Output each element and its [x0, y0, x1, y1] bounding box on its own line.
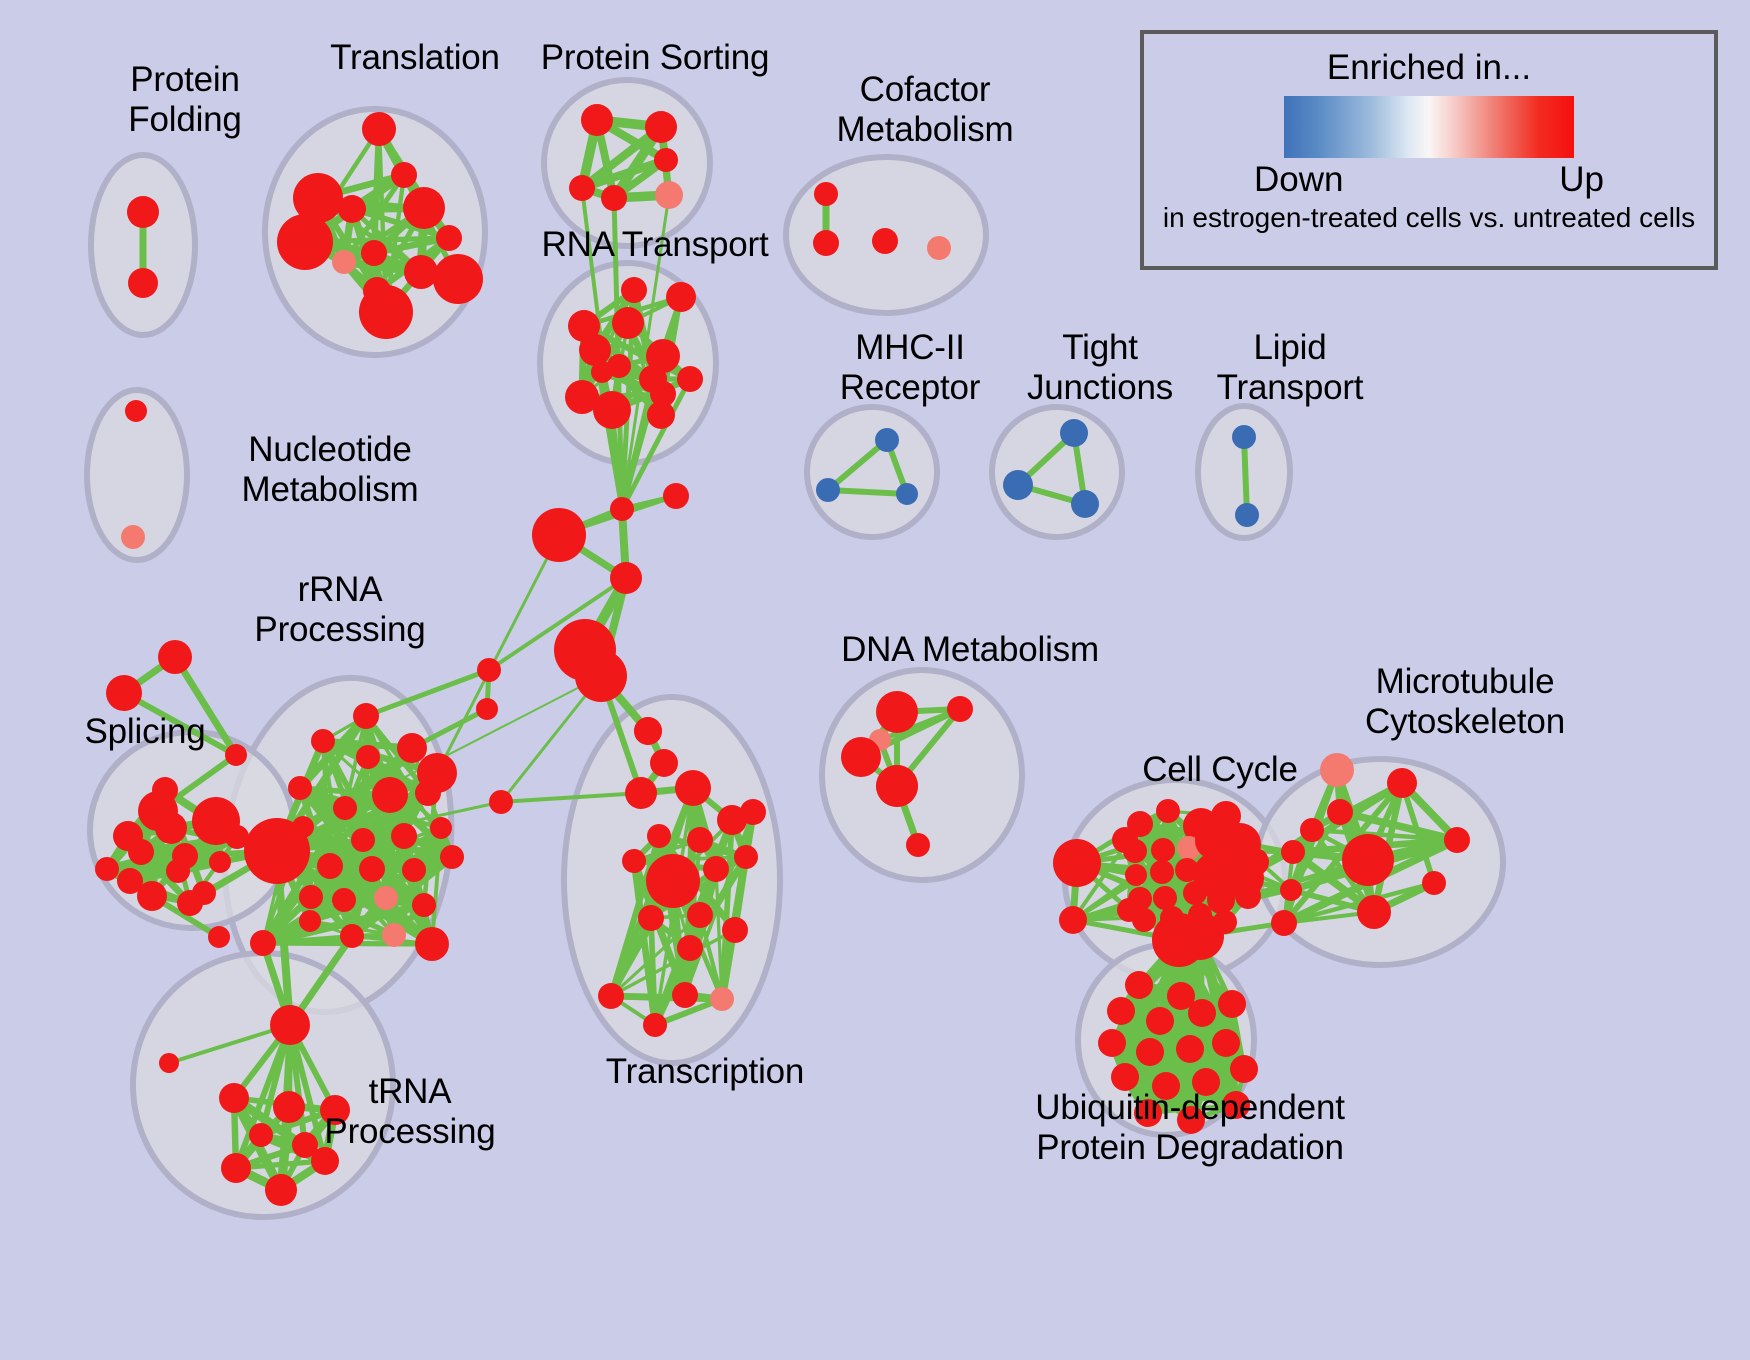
cluster-hull-protein-sorting [544, 80, 710, 246]
network-node[interactable] [666, 282, 696, 312]
network-node[interactable] [333, 796, 357, 820]
network-node[interactable] [710, 987, 734, 1011]
network-node[interactable] [1151, 838, 1175, 862]
network-node[interactable] [663, 483, 689, 509]
network-node[interactable] [1235, 883, 1261, 909]
network-node[interactable] [610, 562, 642, 594]
network-node[interactable] [906, 833, 930, 857]
network-node[interactable] [740, 799, 766, 825]
network-node[interactable] [672, 982, 698, 1008]
network-node[interactable] [569, 175, 595, 201]
network-node[interactable] [841, 737, 881, 777]
network-node[interactable] [403, 187, 445, 229]
network-node[interactable] [1387, 768, 1417, 798]
network-node[interactable] [1152, 1072, 1180, 1100]
network-node[interactable] [270, 1005, 310, 1045]
network-node[interactable] [311, 729, 335, 753]
network-node[interactable] [625, 777, 657, 809]
network-node[interactable] [1280, 879, 1302, 901]
network-node[interactable] [340, 924, 364, 948]
network-node[interactable] [477, 658, 501, 682]
network-node[interactable] [1059, 906, 1087, 934]
network-node[interactable] [643, 1013, 667, 1037]
network-node[interactable] [876, 691, 918, 733]
network-node[interactable] [125, 400, 147, 422]
network-node[interactable] [896, 483, 918, 505]
network-node[interactable] [634, 717, 662, 745]
network-node[interactable] [476, 698, 498, 720]
network-node[interactable] [927, 236, 951, 260]
network-node[interactable] [1098, 1029, 1126, 1057]
network-node[interactable] [734, 845, 758, 869]
network-node[interactable] [1271, 910, 1297, 936]
network-node[interactable] [1125, 864, 1147, 886]
network-node[interactable] [1150, 860, 1174, 884]
network-node[interactable] [1060, 419, 1088, 447]
network-node[interactable] [128, 268, 158, 298]
network-node[interactable] [440, 845, 464, 869]
network-node[interactable] [1117, 898, 1141, 922]
network-node[interactable] [1176, 912, 1224, 960]
network-node[interactable] [249, 1123, 273, 1147]
network-node[interactable] [351, 828, 375, 852]
edge [437, 535, 559, 773]
network-node[interactable] [1156, 799, 1180, 823]
network-node[interactable] [1192, 1068, 1220, 1096]
network-node[interactable] [876, 765, 918, 807]
network-node[interactable] [1342, 834, 1394, 886]
network-node[interactable] [1422, 871, 1446, 895]
network-node[interactable] [338, 195, 366, 223]
network-node[interactable] [816, 478, 840, 502]
network-node[interactable] [647, 824, 671, 848]
network-node[interactable] [591, 361, 613, 383]
network-node[interactable] [687, 827, 713, 853]
network-node[interactable] [1125, 971, 1153, 999]
network-node[interactable] [1357, 895, 1391, 929]
network-node[interactable] [610, 497, 634, 521]
network-node[interactable] [356, 745, 380, 769]
network-node[interactable] [579, 334, 611, 366]
network-node[interactable] [288, 776, 312, 800]
network-node[interactable] [1444, 827, 1470, 853]
network-node[interactable] [372, 777, 408, 813]
network-node[interactable] [813, 230, 839, 256]
network-node[interactable] [430, 817, 452, 839]
network-node[interactable] [166, 859, 190, 883]
network-node[interactable] [687, 902, 713, 928]
network-node[interactable] [655, 181, 683, 209]
network-node[interactable] [359, 285, 413, 339]
network-node[interactable] [106, 675, 142, 711]
legend-title: Enriched in... [1327, 48, 1531, 88]
network-node[interactable] [703, 856, 729, 882]
network-node[interactable] [402, 858, 426, 882]
network-node[interactable] [277, 214, 333, 270]
network-node[interactable] [581, 104, 613, 136]
network-node[interactable] [1053, 839, 1101, 887]
network-node[interactable] [177, 890, 203, 916]
network-node[interactable] [332, 250, 356, 274]
network-node[interactable] [436, 225, 462, 251]
network-node[interactable] [598, 983, 624, 1009]
cluster-hull-mhc-ii-receptor [807, 407, 937, 537]
network-node[interactable] [417, 753, 457, 793]
network-node[interactable] [575, 650, 627, 702]
network-node[interactable] [391, 823, 417, 849]
network-node[interactable] [382, 923, 406, 947]
network-node[interactable] [219, 1083, 249, 1113]
network-node[interactable] [299, 910, 321, 932]
network-node[interactable] [265, 1174, 297, 1206]
network-node[interactable] [225, 744, 247, 766]
legend-high-label: Up [1559, 160, 1604, 200]
network-node[interactable] [675, 770, 711, 806]
network-node[interactable] [113, 821, 143, 851]
network-node[interactable] [433, 254, 483, 304]
enrichment-map-figure: Protein Folding Translation Protein Sort… [0, 0, 1750, 1360]
network-node[interactable] [374, 886, 398, 910]
network-node[interactable] [404, 255, 438, 289]
network-node[interactable] [1232, 425, 1256, 449]
network-node[interactable] [1177, 1106, 1205, 1134]
network-node[interactable] [292, 1132, 318, 1158]
network-node[interactable] [415, 927, 449, 961]
network-node[interactable] [332, 888, 356, 912]
network-node[interactable] [601, 185, 627, 211]
network-node[interactable] [1112, 827, 1138, 853]
network-node[interactable] [299, 885, 323, 909]
network-node[interactable] [221, 1153, 251, 1183]
network-node[interactable] [875, 428, 899, 452]
network-node[interactable] [1188, 999, 1216, 1027]
network-node[interactable] [1176, 1035, 1204, 1063]
legend-subtitle: in estrogen-treated cells vs. untreated … [1163, 202, 1695, 233]
network-node[interactable] [95, 857, 119, 881]
network-node[interactable] [250, 930, 276, 956]
network-node[interactable] [532, 508, 586, 562]
network-node[interactable] [361, 240, 387, 266]
network-node[interactable] [209, 851, 231, 873]
network-node[interactable] [158, 640, 192, 674]
network-node[interactable] [612, 307, 644, 339]
color-scale-bar [1284, 96, 1574, 158]
network-node[interactable] [947, 696, 973, 722]
network-node[interactable] [244, 818, 310, 884]
network-node[interactable] [208, 926, 230, 948]
network-node[interactable] [127, 196, 159, 228]
network-node[interactable] [1320, 753, 1354, 787]
network-node[interactable] [391, 162, 417, 188]
network-node[interactable] [152, 777, 178, 803]
network-node[interactable] [1300, 818, 1324, 842]
network-node[interactable] [1136, 1038, 1164, 1066]
network-node[interactable] [593, 391, 631, 429]
network-node[interactable] [320, 1095, 350, 1125]
network-node[interactable] [677, 935, 703, 961]
network-node[interactable] [639, 365, 667, 393]
network-node[interactable] [677, 366, 703, 392]
network-node[interactable] [814, 182, 838, 206]
network-node[interactable] [1146, 1007, 1174, 1035]
network-node[interactable] [622, 849, 646, 873]
network-node[interactable] [1003, 470, 1033, 500]
network-node[interactable] [1207, 886, 1235, 914]
network-node[interactable] [1218, 990, 1246, 1018]
network-node[interactable] [1235, 503, 1259, 527]
network-node[interactable] [1222, 1091, 1250, 1119]
network-node[interactable] [1327, 799, 1353, 825]
network-node[interactable] [1134, 1099, 1162, 1127]
network-node[interactable] [646, 854, 700, 908]
network-node[interactable] [1183, 881, 1207, 905]
legend-box: Enriched in... Down Up in estrogen-treat… [1140, 30, 1718, 270]
network-node[interactable] [121, 525, 145, 549]
network-node[interactable] [1241, 848, 1269, 876]
network-node[interactable] [489, 790, 513, 814]
network-node[interactable] [722, 917, 748, 943]
network-node[interactable] [872, 228, 898, 254]
network-node[interactable] [1230, 1055, 1258, 1083]
network-node[interactable] [412, 893, 436, 917]
network-node[interactable] [397, 733, 427, 763]
network-node[interactable] [1281, 840, 1305, 864]
network-node[interactable] [645, 111, 677, 143]
network-node[interactable] [654, 148, 678, 172]
network-node[interactable] [621, 277, 647, 303]
network-node[interactable] [1071, 490, 1099, 518]
legend-low-label: Down [1254, 160, 1343, 200]
network-node[interactable] [1111, 1063, 1139, 1091]
network-node[interactable] [638, 905, 664, 931]
network-node[interactable] [137, 881, 167, 911]
network-node[interactable] [159, 1053, 179, 1073]
legend-endpoints: Down Up [1254, 160, 1604, 200]
network-node[interactable] [273, 1091, 305, 1123]
network-node[interactable] [317, 853, 343, 879]
network-node[interactable] [353, 703, 379, 729]
network-node[interactable] [359, 856, 385, 882]
network-node[interactable] [1107, 997, 1135, 1025]
network-node[interactable] [650, 749, 678, 777]
network-node[interactable] [362, 112, 396, 146]
network-node[interactable] [1212, 1029, 1240, 1057]
network-node[interactable] [647, 401, 675, 429]
